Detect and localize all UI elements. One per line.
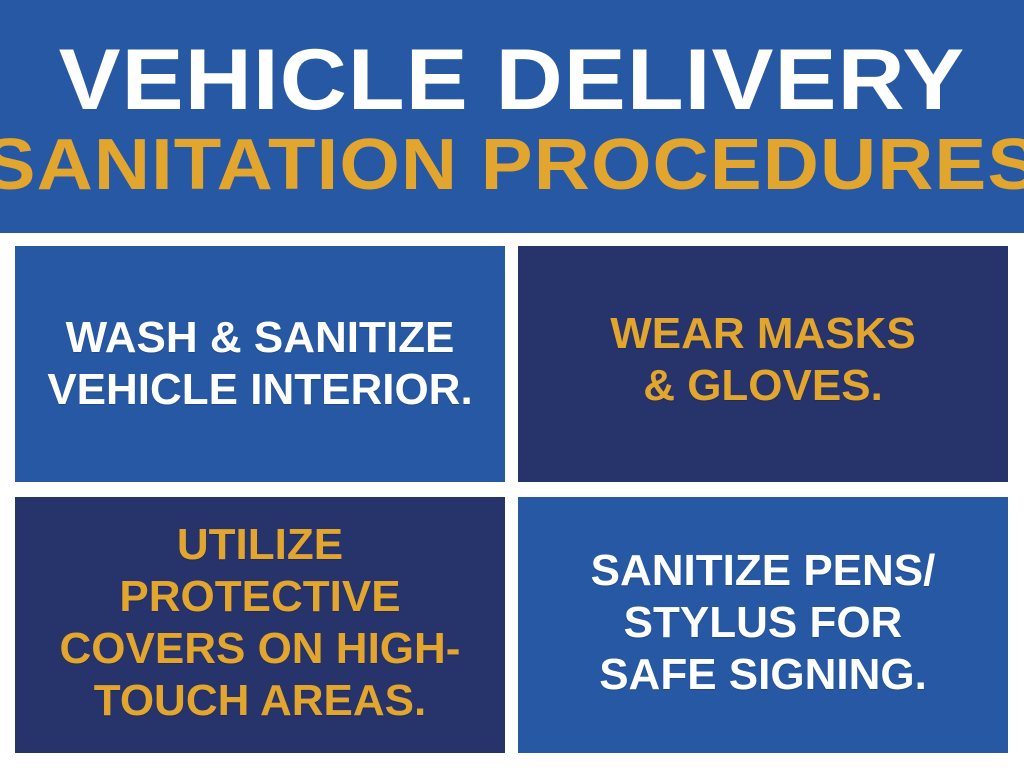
sanitation-procedures-poster: VEHICLE DELIVERY SANITATION PROCEDURES W… bbox=[0, 0, 1024, 768]
procedure-card-text: WASH & SANITIZE VEHICLE INTERIOR. bbox=[33, 312, 487, 416]
poster-title-primary: VEHICLE DELIVERY bbox=[0, 37, 1024, 123]
procedure-card-wash-sanitize-interior: WASH & SANITIZE VEHICLE INTERIOR. bbox=[15, 246, 505, 482]
procedure-card-text: SANITIZE PENS/ STYLUS FOR SAFE SIGNING. bbox=[536, 545, 990, 701]
procedure-card-grid: WASH & SANITIZE VEHICLE INTERIOR. WEAR M… bbox=[15, 246, 1008, 753]
poster-title-secondary: SANITATION PROCEDURES bbox=[0, 129, 1024, 201]
procedure-card-text: WEAR MASKS & GLOVES. bbox=[536, 308, 990, 412]
procedure-card-wear-masks-gloves: WEAR MASKS & GLOVES. bbox=[518, 246, 1008, 482]
header-banner: VEHICLE DELIVERY SANITATION PROCEDURES bbox=[0, 0, 1024, 233]
procedure-card-protective-covers: UTILIZE PROTECTIVE COVERS ON HIGH- TOUCH… bbox=[15, 497, 505, 753]
procedure-card-text: UTILIZE PROTECTIVE COVERS ON HIGH- TOUCH… bbox=[33, 519, 487, 727]
procedure-card-sanitize-pens-stylus: SANITIZE PENS/ STYLUS FOR SAFE SIGNING. bbox=[518, 497, 1008, 753]
